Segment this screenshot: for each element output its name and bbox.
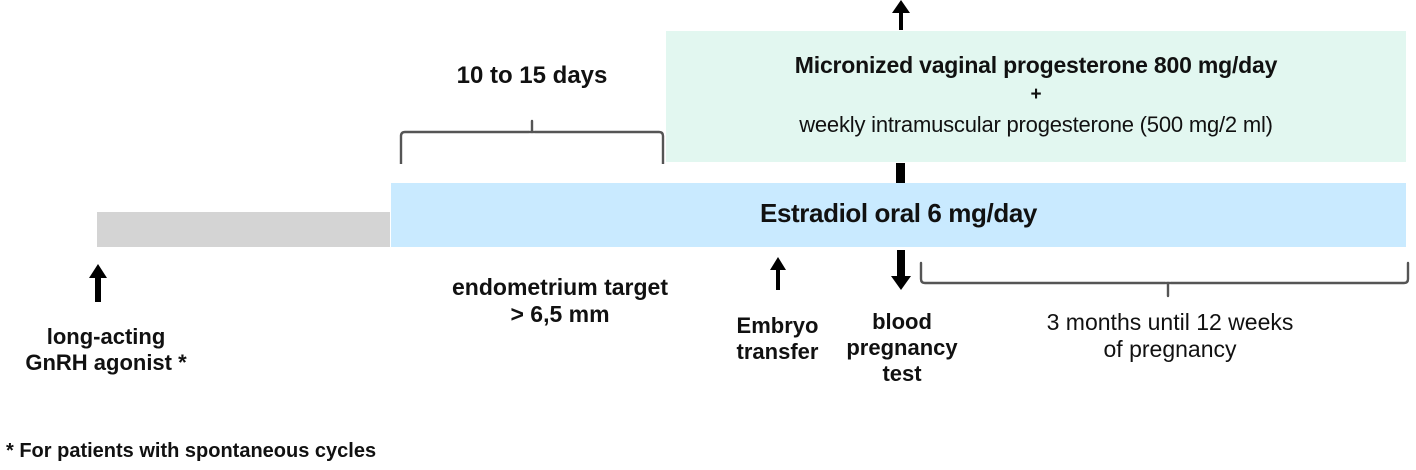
embryo-transfer-arrow-icon: [767, 257, 789, 290]
gnrh-line1: long-acting: [6, 324, 206, 350]
endometrium-target-line2: > 6,5 mm: [395, 301, 725, 328]
footnote-text: * For patients with spontaneous cycles: [6, 440, 566, 463]
luteal-support-line2: of pregnancy: [1000, 336, 1340, 363]
endometrium-target-label: endometrium target > 6,5 mm: [395, 274, 725, 328]
progesterone-plus-sign: +: [666, 84, 1406, 106]
progesterone-secondary-label: weekly intramuscular progesterone (500 m…: [666, 112, 1406, 138]
protocol-timeline-diagram: Micronized vaginal progesterone 800 mg/d…: [0, 0, 1416, 470]
duration-bracket-label: 10 to 15 days: [412, 62, 652, 90]
luteal-support-line1: 3 months until 12 weeks: [1000, 309, 1340, 336]
gnrh-agonist-label: long-acting GnRH agonist *: [6, 324, 206, 376]
blood-test-line3: test: [832, 361, 972, 387]
timeline-connector-dash: [896, 163, 905, 183]
progesterone-primary-label: Micronized vaginal progesterone 800 mg/d…: [666, 52, 1406, 79]
duration-bracket-icon: [396, 118, 668, 164]
progesterone-start-arrow-icon: [890, 0, 912, 30]
endometrium-target-line1: endometrium target: [395, 274, 725, 301]
blood-test-line1: blood: [832, 309, 972, 335]
estradiol-label: Estradiol oral 6 mg/day: [391, 198, 1406, 229]
blood-pregnancy-test-arrow-icon: [890, 250, 912, 290]
blood-pregnancy-test-label: blood pregnancy test: [832, 309, 972, 387]
luteal-support-label: 3 months until 12 weeks of pregnancy: [1000, 309, 1340, 363]
gnrh-line2: GnRH agonist *: [6, 350, 206, 376]
blood-test-line2: pregnancy: [832, 335, 972, 361]
gnrh-agonist-arrow-icon: [88, 264, 110, 302]
pretreatment-bar: [97, 212, 390, 247]
luteal-support-bracket-icon: [918, 260, 1410, 300]
